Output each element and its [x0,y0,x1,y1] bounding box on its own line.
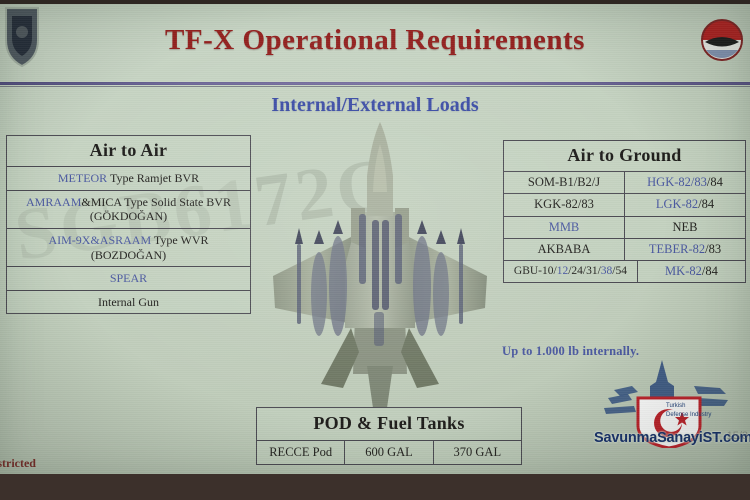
projected-slide: SGB6172G TF-X Operational Requirements I… [0,4,750,476]
air-to-air-cell: SPEAR [7,267,250,290]
air-to-air-cell: METEOR Type Ramjet BVR [7,167,250,190]
table-row: SPEAR [7,266,250,290]
table-header-row: POD & Fuel Tanks [257,408,521,440]
table-row: SOM-B1/B2/J HGK-82/83/84 [504,171,745,193]
ag-left-cell: SOM-B1/B2/J [504,172,624,193]
air-to-air-header: Air to Air [7,136,250,166]
ag-left-cell: KGK-82/83 [504,194,624,215]
classification-label: estricted [0,456,36,471]
ag-right-cell: TEBER-82/83 [624,239,745,260]
table-row: AMRAAM&MICA Type Solid State BVR (GÖKDOĞ… [7,190,250,228]
slide-photo: SGB6172G TF-X Operational Requirements I… [0,0,750,500]
air-to-ground-table: Air to Ground SOM-B1/B2/J HGK-82/83/84 K… [503,140,746,283]
air-to-air-cell: Internal Gun [7,291,250,314]
fighter-jet-topview-icon [255,116,505,408]
table-row: AKBABA TEBER-82/83 [504,238,745,260]
table-row: MMB NEB [504,216,745,238]
pod-fuel-header: POD & Fuel Tanks [257,408,521,440]
table-row: AIM-9X&ASRAAM Type WVR (BOZDOĞAN) [7,228,250,266]
ag-left-cell: GBU-10/12/24/31/38/54 [504,261,637,282]
table-header-row: Air to Ground [504,141,745,171]
air-to-ground-header: Air to Ground [504,141,745,171]
ag-right-cell: MK-82/84 [637,261,745,282]
ag-right-cell: NEB [624,217,745,238]
air-to-air-table: Air to Air METEOR Type Ramjet BVR AMRAAM… [6,135,251,314]
title-divider-shadow [0,86,750,87]
air-to-air-cell: AIM-9X&ASRAAM Type WVR (BOZDOĞAN) [7,229,250,266]
table-row: KGK-82/83 LGK-82/84 [504,193,745,215]
table-row: GBU-10/12/24/31/38/54 MK-82/84 [504,260,745,282]
photo-bottom-border [0,474,750,500]
table-row: Internal Gun [7,290,250,314]
ag-left-cell: AKBABA [504,239,624,260]
table-header-row: Air to Air [7,136,250,166]
table-row: METEOR Type Ramjet BVR [7,166,250,190]
date-watermark: 15/3 [727,430,748,442]
site-watermark: SavunmaSanayiST.com [594,430,740,446]
page-subtitle: Internal/External Loads [0,94,750,117]
page-title: TF-X Operational Requirements [0,24,750,57]
pod-cell: 600 GAL [344,441,432,464]
ag-right-cell: LGK-82/84 [624,194,745,215]
air-to-air-cell: AMRAAM&MICA Type Solid State BVR (GÖKDOĞ… [7,191,250,228]
table-row: RECCE Pod 600 GAL 370 GAL [257,440,521,464]
pod-cell: RECCE Pod [257,441,344,464]
site-logo-caption: Turkish Defense Industry [666,402,736,420]
pod-fuel-tanks-table: POD & Fuel Tanks RECCE Pod 600 GAL 370 G… [256,407,522,465]
pod-cell: 370 GAL [433,441,521,464]
ag-right-cell: HGK-82/83/84 [624,172,745,193]
ag-left-cell: MMB [504,217,624,238]
title-divider [0,82,750,85]
